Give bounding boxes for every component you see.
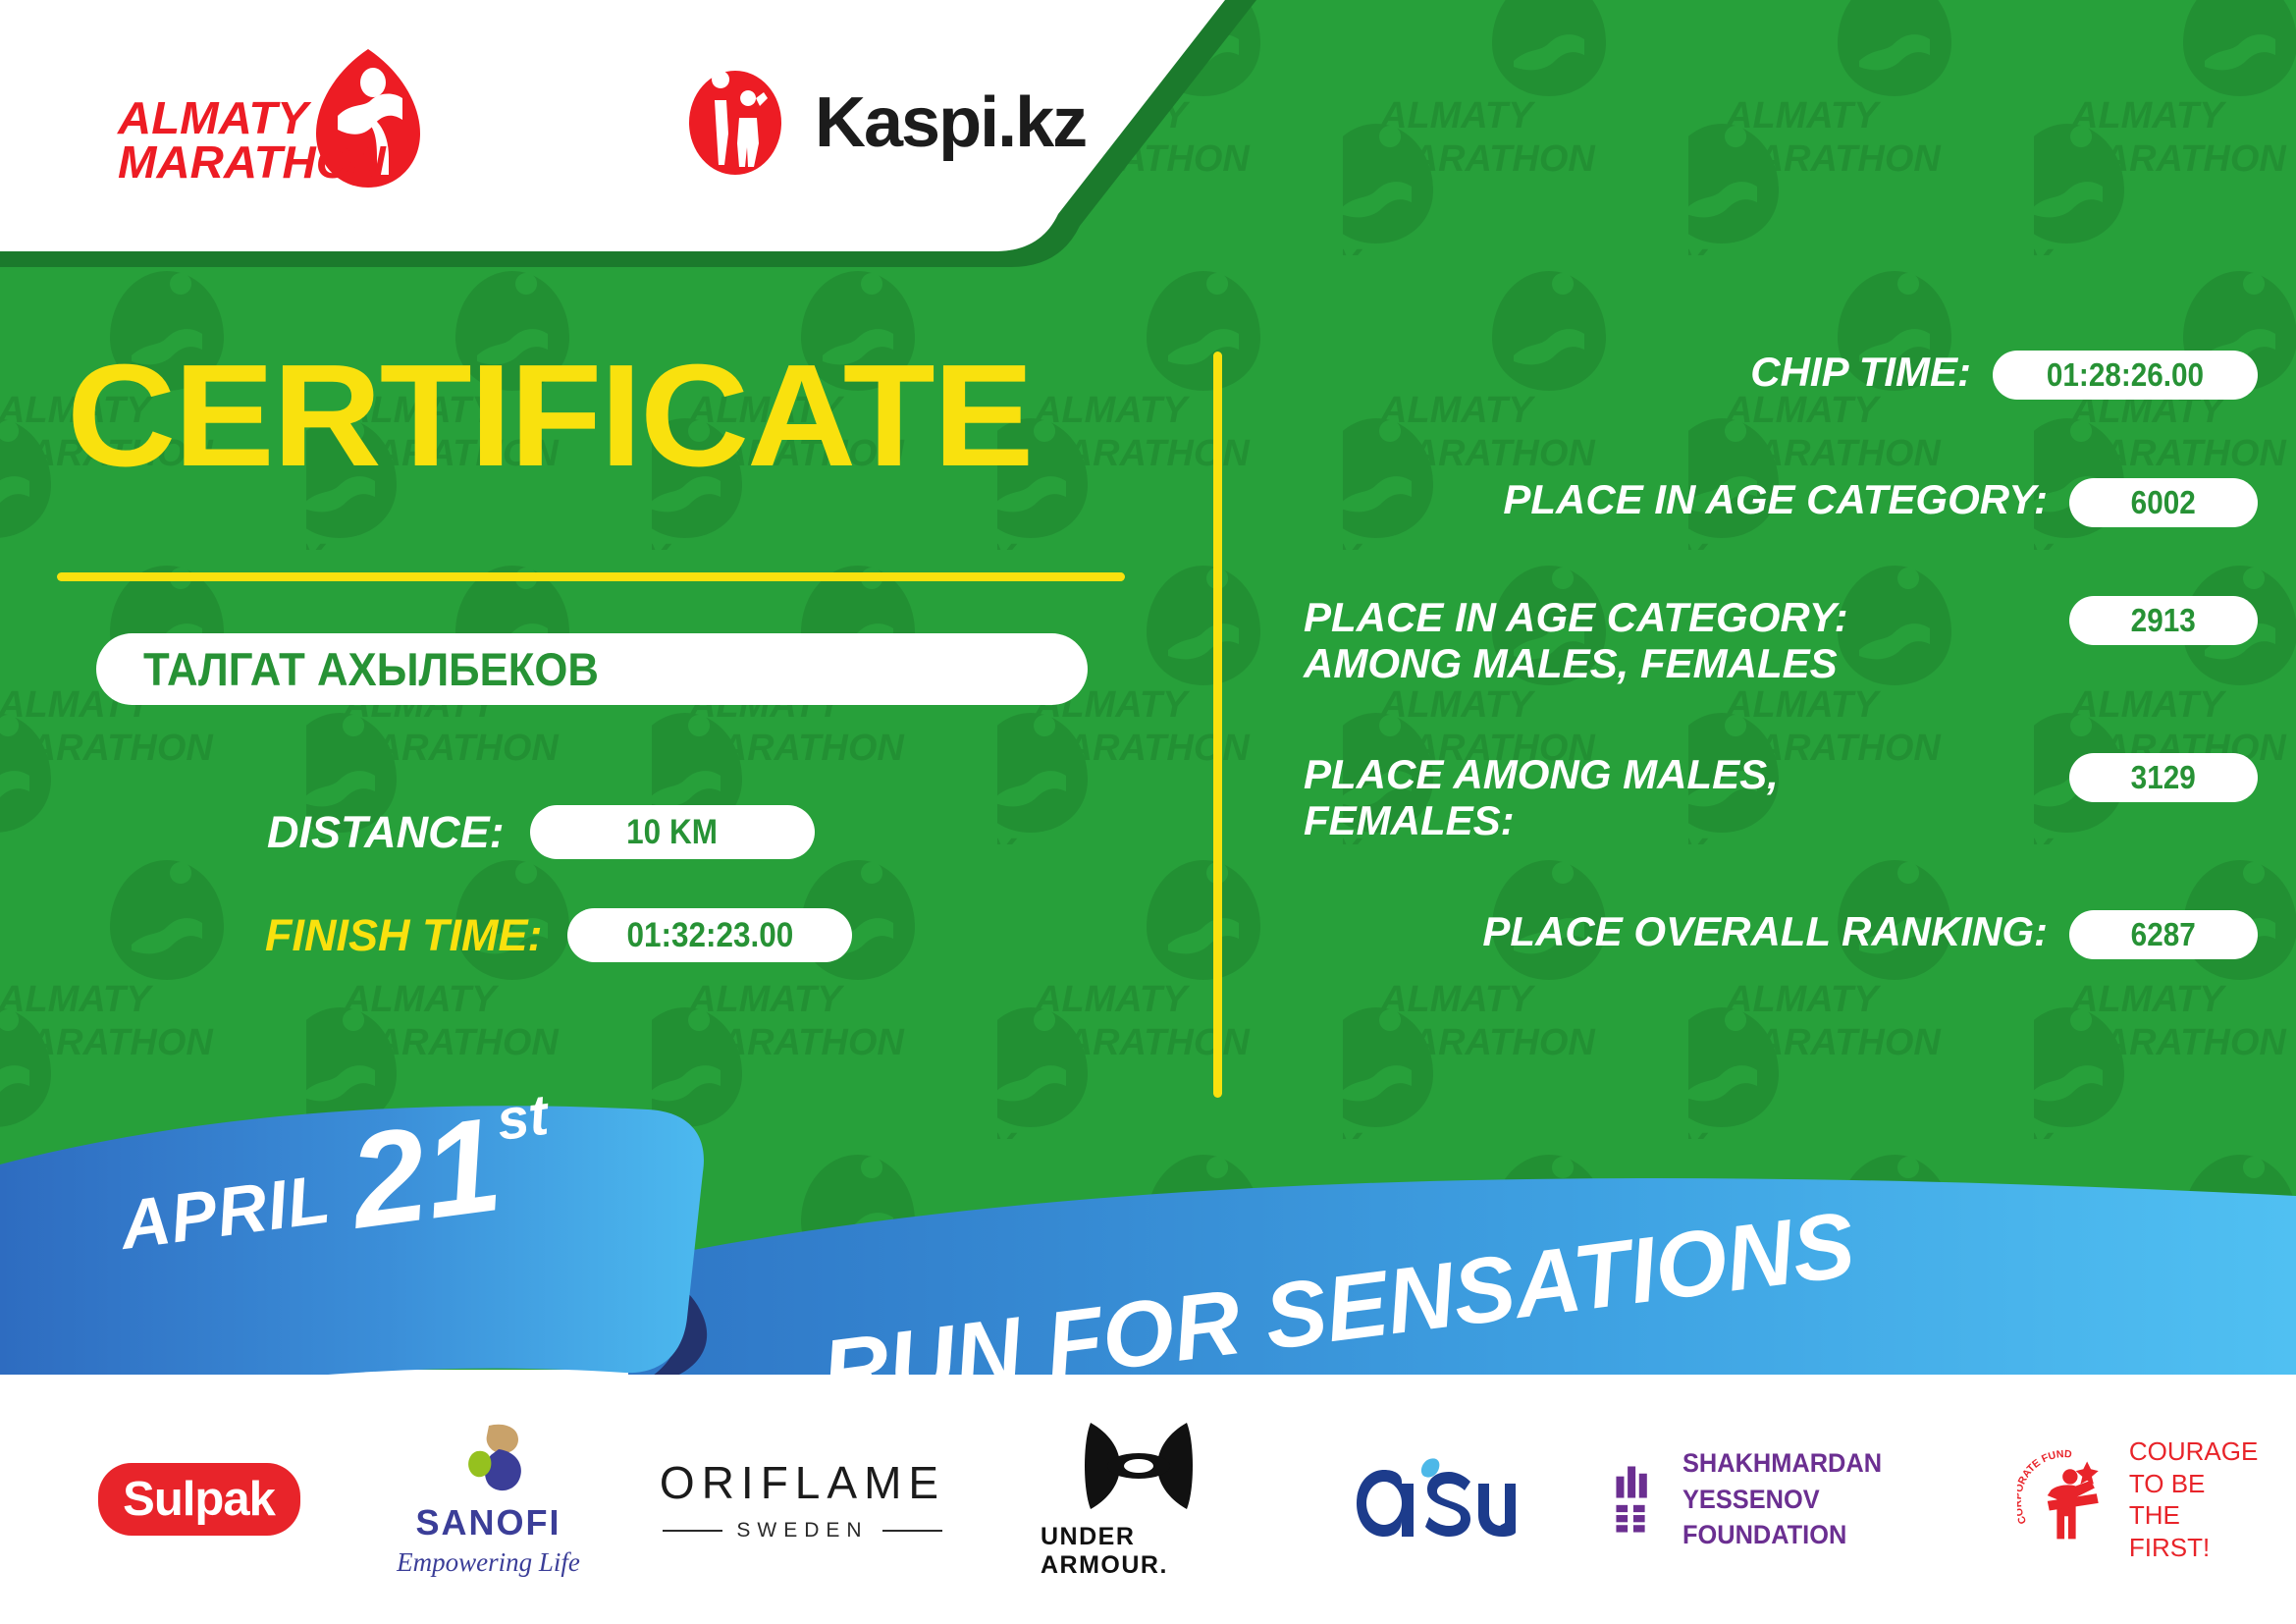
finish-time-label: FINISH TIME: — [265, 910, 542, 961]
under-armour-logo — [1081, 1419, 1197, 1513]
almaty-marathon-logo: ALMATY MARATHON — [118, 47, 442, 204]
stat-label: PLACE IN AGE CATEGORY: — [1266, 476, 2069, 522]
stat-label: PLACE IN AGE CATEGORY: AMONG MALES, FEMA… — [1266, 594, 2069, 686]
participant-name: ТАЛГАТ АХЫЛБЕКОВ — [143, 642, 599, 696]
stat-label: PLACE OVERALL RANKING: — [1266, 908, 2069, 954]
ribbon-day: 21 — [345, 1108, 507, 1239]
ribbon-ordinal: st — [494, 1087, 552, 1150]
sponsor-yessenov-foundation: SHAKHMARDAN YESSENOV FOUNDATION — [1615, 1406, 1949, 1593]
kaspi-wordmark: Kaspi.kz — [815, 82, 1086, 163]
courage-fund-logo: CORPORATE FUND — [2017, 1446, 2119, 1552]
sponsor-bar: Sulpak SANOFI Empowering Life ORIFLAME S… — [0, 1375, 2296, 1624]
stat-value-pill: 01:28:26.00 — [1993, 351, 2258, 400]
oriflame-rule-left — [663, 1530, 722, 1532]
sponsor-sulpak: Sulpak — [93, 1406, 304, 1593]
distance-value-pill: 10 KM — [530, 805, 815, 859]
logo-line-2: MARATHON — [118, 140, 386, 185]
distance-value: 10 KM — [626, 813, 718, 852]
sulpak-logo: Sulpak — [98, 1463, 300, 1536]
column-divider — [1213, 352, 1222, 1098]
page-title: CERTIFICATE — [67, 344, 1032, 489]
yessenov-foundation-logo — [1615, 1452, 1659, 1546]
yessenov-line: SHAKHMARDAN YESSENOV FOUNDATION — [1682, 1448, 1882, 1549]
stat-value-pill: 6002 — [2069, 478, 2258, 527]
stat-value-pill: 3129 — [2069, 753, 2258, 802]
stat-value: 2913 — [2131, 602, 2196, 639]
stat-value-pill: 6287 — [2069, 910, 2258, 959]
sponsor-asu — [1345, 1406, 1522, 1593]
finish-time-value: 01:32:23.00 — [627, 916, 794, 955]
logo-line-1: ALMATY — [118, 96, 386, 140]
stat-value: 3129 — [2131, 759, 2196, 796]
participant-name-field: ТАЛГАТ АХЫЛБЕКОВ — [96, 633, 1088, 705]
finish-time-value-pill: 01:32:23.00 — [567, 908, 852, 962]
sanofi-tagline: Empowering Life — [397, 1547, 580, 1578]
stat-row-place-in-age-category-among: PLACE IN AGE CATEGORY: AMONG MALES, FEMA… — [1266, 594, 2258, 686]
oriflame-rule-right — [882, 1530, 942, 1532]
oriflame-subline: SWEDEN — [663, 1519, 942, 1543]
stat-row-place-among-males-females: PLACE AMONG MALES, FEMALES: 3129 — [1266, 751, 2258, 843]
kaspi-logo: Kaspi.kz — [677, 69, 1086, 177]
oriflame-wordmark: ORIFLAME — [660, 1456, 945, 1509]
asu-logo — [1351, 1454, 1516, 1544]
sponsor-oriflame: ORIFLAME SWEDEN — [663, 1406, 942, 1593]
sulpak-wordmark: Sulpak — [123, 1472, 275, 1527]
under-armour-wordmark: UNDER ARMOUR. — [1041, 1523, 1237, 1580]
stat-label: PLACE AMONG MALES, FEMALES: — [1266, 751, 2069, 843]
sponsor-under-armour: UNDER ARMOUR. — [1041, 1406, 1237, 1593]
stat-value-pill: 2913 — [2069, 596, 2258, 645]
oriflame-tagline: SWEDEN — [736, 1519, 868, 1543]
almaty-marathon-wordmark: ALMATY MARATHON — [118, 96, 386, 185]
stat-label: CHIP TIME: — [1266, 349, 1993, 395]
stat-value: 6287 — [2131, 916, 2196, 953]
kaspi-people-icon — [677, 69, 793, 177]
stat-value: 6002 — [2131, 484, 2196, 521]
stat-row-place-overall-ranking: PLACE OVERALL RANKING: 6287 — [1266, 908, 2258, 959]
certificate-card: ALMATY MARATHON ALMA — [0, 0, 2296, 1624]
distance-label: DISTANCE: — [267, 807, 505, 858]
sanofi-logo — [444, 1422, 534, 1496]
sponsor-sanofi: SANOFI Empowering Life — [383, 1406, 594, 1593]
title-underline — [57, 572, 1125, 581]
distance-row: DISTANCE: 10 KM — [267, 805, 815, 859]
courage-wordmark: COURAGE TO BE THE FIRST! — [2129, 1435, 2263, 1563]
stat-row-place-in-age-category: PLACE IN AGE CATEGORY: 6002 — [1266, 476, 2258, 527]
stat-row-chip-time: CHIP TIME: 01:28:26.00 — [1266, 349, 2258, 400]
yessenov-wordmark: SHAKHMARDAN YESSENOV FOUNDATION — [1682, 1445, 1933, 1552]
stat-value: 01:28:26.00 — [2047, 356, 2204, 394]
certificate-left-column: CERTIFICATE ТАЛГАТ АХЫЛБЕКОВ DISTANCE: 1… — [0, 295, 1217, 1276]
finish-time-row: FINISH TIME: 01:32:23.00 — [265, 908, 852, 962]
sponsor-courage-fund: CORPORATE FUND COURAGE TO BE THE FIRST! — [2017, 1406, 2263, 1593]
sanofi-wordmark: SANOFI — [415, 1502, 561, 1543]
header: ALMATY MARATHON Kaspi.kz — [0, 0, 1256, 285]
courage-line: COURAGE TO BE THE FIRST! — [2129, 1436, 2258, 1562]
